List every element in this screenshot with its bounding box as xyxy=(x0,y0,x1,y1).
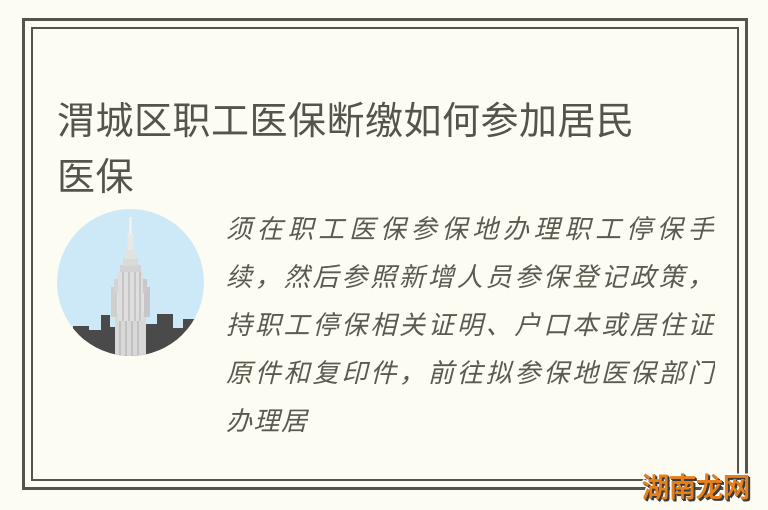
content-row: 须在职工医保参保地办理职工停保手续，然后参照新增人员参保登记政策，持职工停保相关… xyxy=(57,206,715,446)
empire-state-building-illustration xyxy=(57,209,204,356)
article-body: 须在职工医保参保地办理职工停保手续，然后参照新增人员参保登记政策，持职工停保相关… xyxy=(226,206,715,446)
site-watermark: 湖南龙网 xyxy=(642,475,750,502)
page-title: 渭城区职工医保断缴如何参加居民医保 xyxy=(57,94,657,206)
article-card: 渭城区职工医保断缴如何参加居民医保 xyxy=(22,18,748,490)
illustration-svg xyxy=(57,209,204,356)
